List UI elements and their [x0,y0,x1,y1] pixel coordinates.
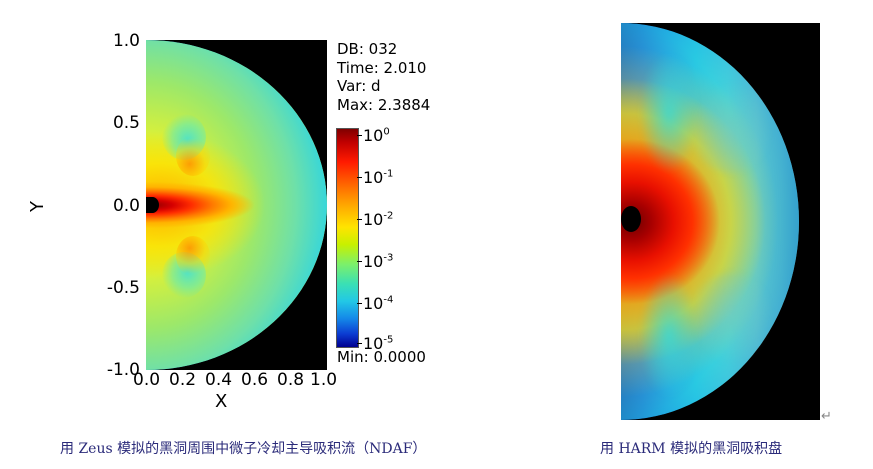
cb-exponent: 0 [383,127,389,138]
right-figure-caption: 用 HARM 模拟的黑洞吸积盘 [600,438,782,458]
meta-db: DB: 032 [337,40,430,59]
x-tick-label: 0.0 [133,370,160,390]
black-hole-marker [621,206,641,232]
colorbar-tick-label: 10-4 [363,294,393,313]
y-tick-label: -1.0 [60,360,140,380]
x-tick-label: 0.8 [277,370,304,390]
cb-mantissa: 10 [363,210,383,229]
turbulence-blob-upper [691,83,771,173]
harm-plot-area [621,23,820,420]
colorbar-tick [357,343,362,344]
colorbar-tick [357,177,362,178]
colorbar-tick [357,261,362,262]
visit-metadata-block: DB: 032 Time: 2.010 Var: d Max: 2.3884 [337,40,430,114]
x-axis-label: X [215,391,227,412]
x-tick-label: 0.2 [169,370,196,390]
cb-exponent: -3 [383,253,393,264]
y-tick-label: 1.0 [66,31,140,51]
x-tick-label: 1.0 [310,370,337,390]
cb-exponent: -2 [383,211,393,222]
y-tick-label: -0.5 [60,278,140,298]
corona-wisp-upper [639,53,699,173]
colorbar-tick [357,219,362,220]
corona-wisp-lower [639,273,699,398]
left-figure-caption: 用 Zeus 模拟的黑洞周围中微子冷却主导吸积流（NDAF） [60,438,426,458]
colorbar-tick-label: 10-2 [363,210,393,229]
colorbar-tick-label: 100 [363,126,390,145]
zeus-plot-area [146,40,327,370]
colorbar-tick-label: 10-3 [363,252,393,271]
colorbar-tick-label: 10-1 [363,168,393,187]
meta-max: Max: 2.3884 [337,96,430,115]
black-hole-marker [146,197,159,213]
cb-exponent: -5 [383,335,393,346]
meta-var: Var: d [337,77,430,96]
zeus-data-canvas [146,40,327,370]
zeus-density-field [146,40,327,370]
x-tick-label: 0.6 [241,370,268,390]
cb-mantissa: 10 [363,252,383,271]
meta-time: Time: 2.010 [337,59,430,78]
colorbar-min-label: Min: 0.0000 [337,348,426,366]
outflow-arm-lower [176,236,210,276]
cb-exponent: -4 [383,295,393,306]
cb-mantissa: 10 [363,126,383,145]
turbulence-blob-lower [691,273,771,363]
cb-mantissa: 10 [363,168,383,187]
colorbar-tick [357,303,362,304]
zeus-visit-panel: 1.0 0.5 0.0 -0.5 -1.0 Y 0.0 0.2 0.4 0.6 … [0,0,470,430]
y-tick-label: 0.0 [66,196,140,216]
colorbar-tick [357,135,362,136]
outflow-arm-upper [176,136,210,176]
y-tick-label: 0.5 [66,113,140,133]
colorbar [336,128,359,348]
cb-mantissa: 10 [363,294,383,313]
y-axis-label: Y [27,201,48,212]
x-tick-label: 0.4 [205,370,232,390]
paragraph-return-mark: ↵ [821,409,832,424]
cb-exponent: -1 [383,169,393,180]
